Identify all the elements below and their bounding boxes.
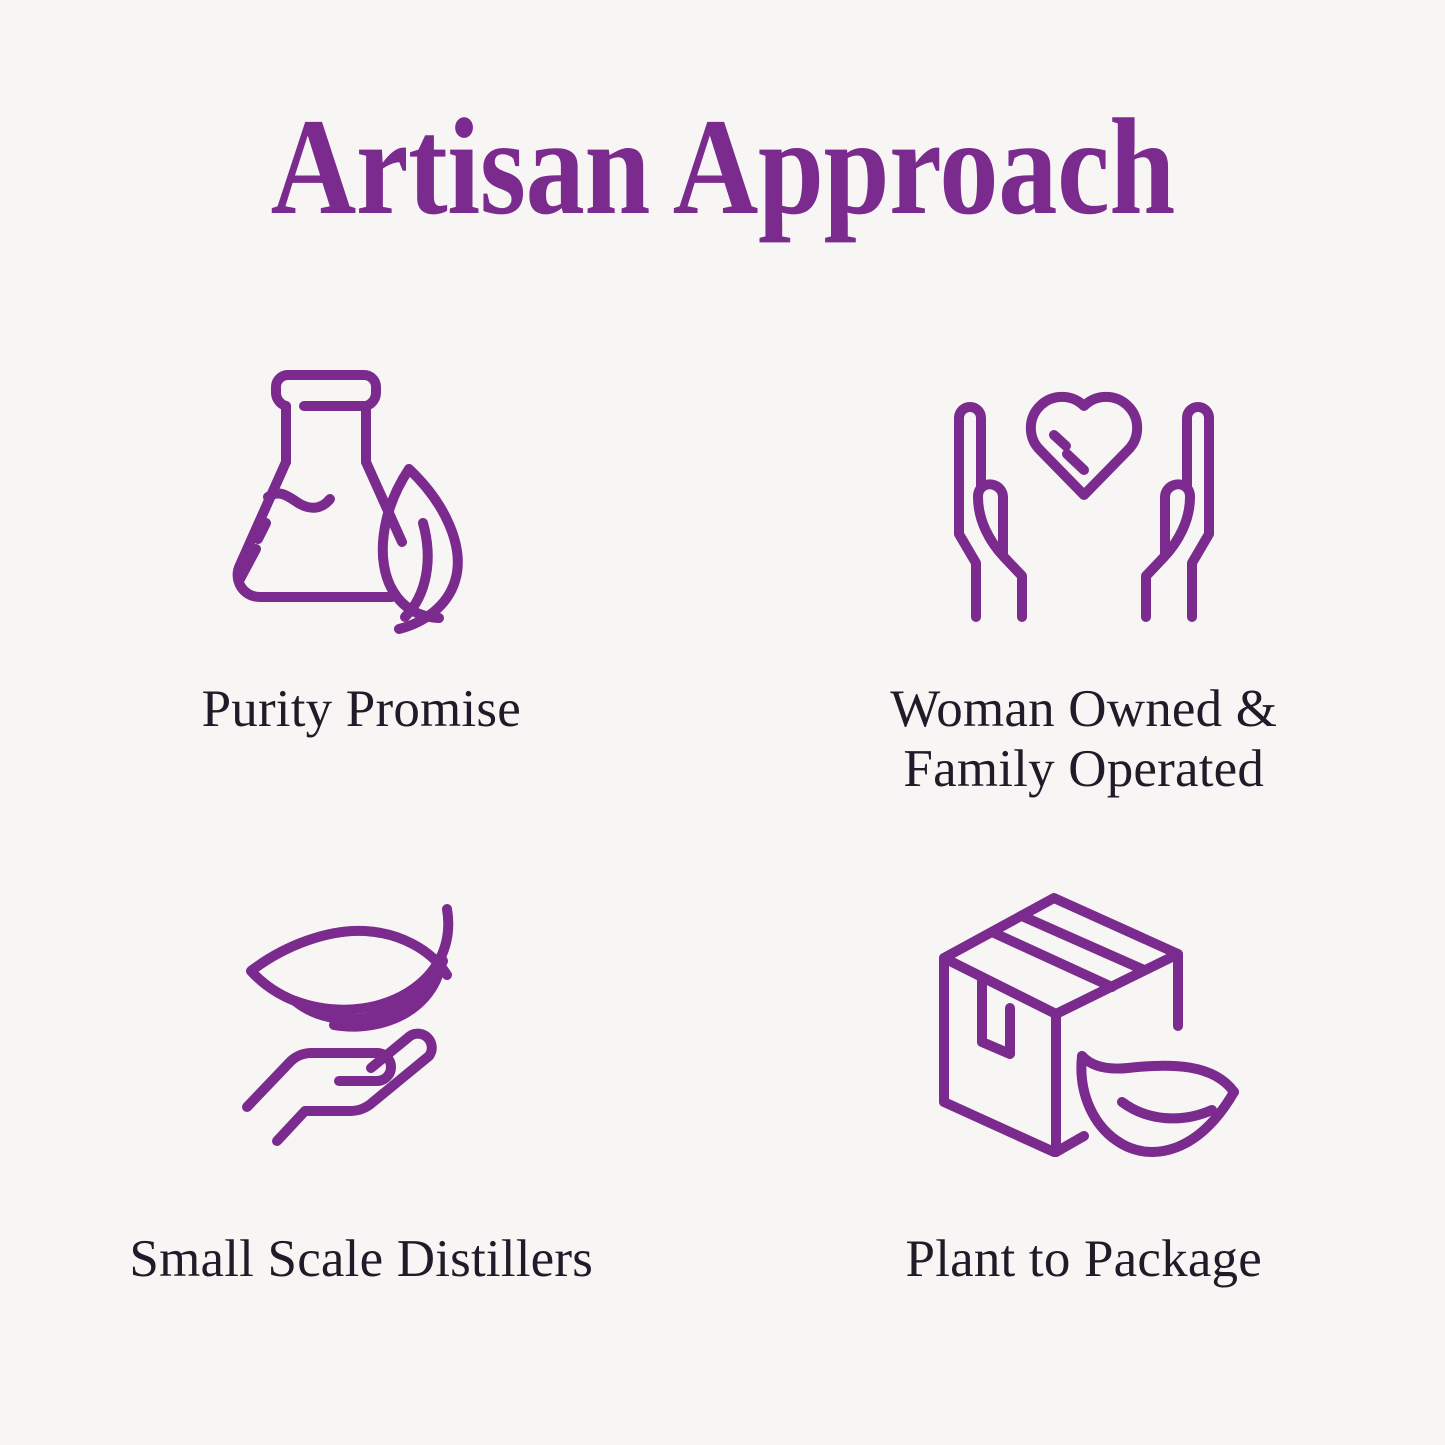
feature-grid: Purity Promise [0, 330, 1445, 1390]
feature-item-woman-owned: Woman Owned & Family Operated [723, 330, 1445, 860]
feature-item-plant-to-package: Plant to Package [723, 860, 1445, 1390]
feature-label-small-scale-distillers: Small Scale Distillers [129, 1230, 593, 1290]
feature-label-purity-promise: Purity Promise [202, 680, 521, 740]
page-title-container: Artisan Approach [0, 98, 1445, 236]
feature-item-purity-promise: Purity Promise [0, 330, 723, 860]
hands-holding-heart-icon [934, 352, 1234, 652]
page-title: Artisan Approach [270, 98, 1174, 236]
hand-holding-leaf-icon [237, 872, 485, 1172]
artisan-approach-infographic: Artisan Approach [0, 0, 1445, 1445]
flask-leaf-icon [226, 348, 496, 648]
feature-label-woman-owned: Woman Owned & Family Operated [890, 680, 1277, 800]
feature-item-small-scale-distillers: Small Scale Distillers [0, 860, 723, 1390]
feature-label-plant-to-package: Plant to Package [906, 1230, 1262, 1290]
box-leaf-icon [934, 872, 1234, 1172]
